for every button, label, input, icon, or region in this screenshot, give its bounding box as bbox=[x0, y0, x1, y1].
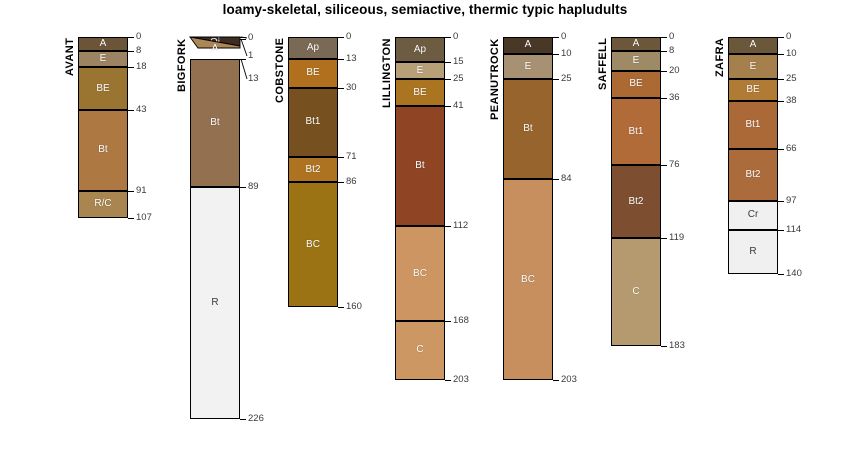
depth-tick-label: 114 bbox=[786, 225, 801, 235]
profile-name-label: AVANT bbox=[64, 38, 76, 98]
depth-tick bbox=[445, 79, 451, 80]
depth-tick bbox=[553, 54, 559, 55]
depth-tick bbox=[553, 179, 559, 180]
horizon-a bbox=[728, 37, 778, 54]
depth-tick bbox=[338, 182, 344, 183]
horizon-be bbox=[728, 79, 778, 101]
depth-tick bbox=[128, 51, 134, 52]
depth-tick bbox=[445, 106, 451, 107]
depth-tick-label: 112 bbox=[453, 221, 468, 231]
soil-profile-chart: loamy-skeletal, siliceous, semiactive, t… bbox=[0, 0, 850, 450]
depth-tick-label: 8 bbox=[136, 46, 141, 56]
depth-tick-label: 0 bbox=[346, 32, 351, 42]
depth-tick-label: 140 bbox=[786, 269, 802, 279]
depth-tick bbox=[445, 37, 451, 38]
depth-tick-label: 66 bbox=[786, 144, 797, 154]
depth-tick-label: 226 bbox=[248, 414, 264, 424]
depth-tick bbox=[553, 37, 559, 38]
depth-tick bbox=[778, 149, 784, 150]
depth-tick-label: 168 bbox=[453, 316, 469, 326]
depth-tick-label: 97 bbox=[786, 196, 797, 206]
horizon-wedge-a bbox=[190, 37, 240, 61]
horizon-e bbox=[395, 62, 445, 79]
depth-tick-label: 43 bbox=[136, 105, 147, 115]
depth-tick bbox=[778, 54, 784, 55]
depth-tick-label: 25 bbox=[786, 74, 797, 84]
horizon-c bbox=[395, 321, 445, 380]
depth-tick-label: 84 bbox=[561, 174, 572, 184]
depth-tick bbox=[778, 79, 784, 80]
horizon-e bbox=[78, 51, 128, 68]
depth-tick bbox=[128, 191, 134, 192]
horizon-cr bbox=[728, 201, 778, 230]
depth-tick-label: 86 bbox=[346, 177, 357, 187]
depth-tick bbox=[338, 157, 344, 158]
depth-tick-label: 13 bbox=[248, 74, 259, 84]
horizon-bt1 bbox=[288, 88, 338, 157]
depth-tick bbox=[445, 380, 451, 381]
depth-tick bbox=[128, 218, 134, 219]
depth-tick bbox=[338, 59, 344, 60]
depth-tick bbox=[445, 226, 451, 227]
depth-tick bbox=[661, 238, 667, 239]
depth-tick-label: 36 bbox=[669, 93, 680, 103]
profile-name-label: LILLINGTON bbox=[381, 38, 393, 128]
depth-tick-label: 18 bbox=[136, 62, 147, 72]
depth-tick-label: 41 bbox=[453, 101, 464, 111]
depth-tick-label: 0 bbox=[136, 32, 141, 42]
profile-name-label: SAFFELL bbox=[597, 38, 609, 101]
horizon-a bbox=[78, 37, 128, 51]
depth-tick bbox=[445, 321, 451, 322]
depth-tick-label: 183 bbox=[669, 341, 685, 351]
horizon-bc bbox=[395, 226, 445, 321]
profile-name-label: PEANUTROCK bbox=[489, 38, 501, 128]
depth-tick bbox=[778, 201, 784, 202]
horizon-bc bbox=[503, 179, 553, 380]
horizon-a bbox=[503, 37, 553, 54]
horizon-r bbox=[190, 187, 240, 419]
depth-tick-label: 71 bbox=[346, 152, 357, 162]
depth-tick-label: 25 bbox=[453, 74, 464, 84]
depth-tick bbox=[661, 98, 667, 99]
horizon-bc bbox=[288, 182, 338, 307]
horizon-bt2 bbox=[611, 165, 661, 238]
horizon-bt2 bbox=[728, 149, 778, 201]
depth-tick bbox=[128, 67, 134, 68]
depth-tick-label: 38 bbox=[786, 96, 797, 106]
horizon-be bbox=[395, 79, 445, 106]
horizon-e bbox=[728, 54, 778, 79]
depth-tick-label: 76 bbox=[669, 160, 680, 170]
depth-tick bbox=[338, 307, 344, 308]
depth-tick-label: 107 bbox=[136, 213, 152, 223]
horizon-e bbox=[611, 51, 661, 71]
depth-tick bbox=[778, 274, 784, 275]
depth-tick bbox=[553, 380, 559, 381]
depth-tick-label: 10 bbox=[561, 49, 572, 59]
horizon-e bbox=[503, 54, 553, 79]
depth-tick bbox=[445, 62, 451, 63]
depth-tick-label: 20 bbox=[669, 66, 680, 76]
depth-tick bbox=[661, 346, 667, 347]
horizon-be bbox=[78, 67, 128, 109]
horizon-a bbox=[611, 37, 661, 51]
horizon-r-c bbox=[78, 191, 128, 218]
depth-tick-label: 13 bbox=[346, 54, 357, 64]
horizon-bt bbox=[503, 79, 553, 179]
depth-tick bbox=[778, 101, 784, 102]
depth-tick-label: 30 bbox=[346, 83, 357, 93]
depth-tick-label: 91 bbox=[136, 186, 147, 196]
depth-tick bbox=[338, 88, 344, 89]
depth-tick bbox=[240, 419, 246, 420]
depth-tick-label: 119 bbox=[669, 233, 684, 243]
horizon-ap bbox=[288, 37, 338, 59]
depth-tick-label: 203 bbox=[453, 375, 469, 385]
chart-title: loamy-skeletal, siliceous, semiactive, t… bbox=[0, 2, 850, 17]
depth-tick-label: 0 bbox=[453, 32, 458, 42]
depth-tick bbox=[661, 37, 667, 38]
depth-tick-label: 0 bbox=[561, 32, 566, 42]
horizon-bt2 bbox=[288, 157, 338, 182]
depth-tick bbox=[553, 79, 559, 80]
depth-tick-label: 8 bbox=[669, 46, 674, 56]
horizon-c bbox=[611, 238, 661, 346]
depth-tick-label: 10 bbox=[786, 49, 797, 59]
horizon-bt bbox=[78, 110, 128, 191]
depth-tick-label: 15 bbox=[453, 57, 464, 67]
profile-name-label: COBSTONE bbox=[274, 38, 286, 110]
horizon-be bbox=[611, 71, 661, 98]
horizon-bt1 bbox=[728, 101, 778, 148]
depth-tick bbox=[128, 37, 134, 38]
depth-tick-label: 89 bbox=[248, 182, 259, 192]
profile-name-label: BIGFORK bbox=[176, 38, 188, 101]
depth-tick-label: 203 bbox=[561, 375, 577, 385]
depth-tick-label: 0 bbox=[786, 32, 791, 42]
horizon-ap bbox=[395, 37, 445, 62]
depth-tick bbox=[778, 230, 784, 231]
depth-tick bbox=[661, 165, 667, 166]
horizon-bt bbox=[395, 106, 445, 226]
depth-tick bbox=[128, 110, 134, 111]
horizon-be bbox=[288, 59, 338, 88]
depth-tick bbox=[240, 187, 246, 188]
horizon-bt1 bbox=[611, 98, 661, 166]
horizon-bt bbox=[190, 59, 240, 187]
horizon-r bbox=[728, 230, 778, 274]
depth-tick bbox=[778, 37, 784, 38]
profile-name-label: ZAFRA bbox=[714, 38, 726, 98]
depth-tick-label: 25 bbox=[561, 74, 572, 84]
depth-tick bbox=[661, 51, 667, 52]
depth-tick-label: 0 bbox=[669, 32, 674, 42]
depth-tick bbox=[338, 37, 344, 38]
depth-tick-label: 160 bbox=[346, 302, 362, 312]
depth-tick bbox=[661, 71, 667, 72]
